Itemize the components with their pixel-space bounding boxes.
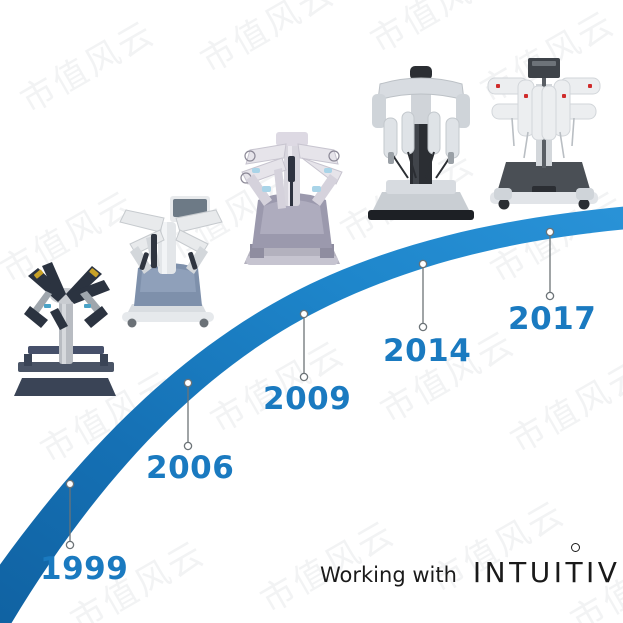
year-labels: 19992006200920142017 [0,0,623,623]
year-label-2009: 2009 [263,381,351,417]
brand-intuitive-text: INTUITIVE [473,556,623,589]
year-label-2014: 2014 [383,333,471,369]
timeline-infographic: 市值风云市值风云市值风云市值风云市值风云市值风云市值风云市值风云市值风云市值风云… [0,0,623,623]
year-label-2006: 2006 [146,450,234,486]
intuitive-circle-icon [571,543,580,552]
brand-lockup: Working with INTUITIVE [320,556,623,589]
brand-working-with: Working with [320,563,457,587]
year-label-2017: 2017 [508,301,596,337]
year-label-1999: 1999 [40,551,128,587]
brand-intuitive-wordmark: INTUITIVE [473,556,623,589]
